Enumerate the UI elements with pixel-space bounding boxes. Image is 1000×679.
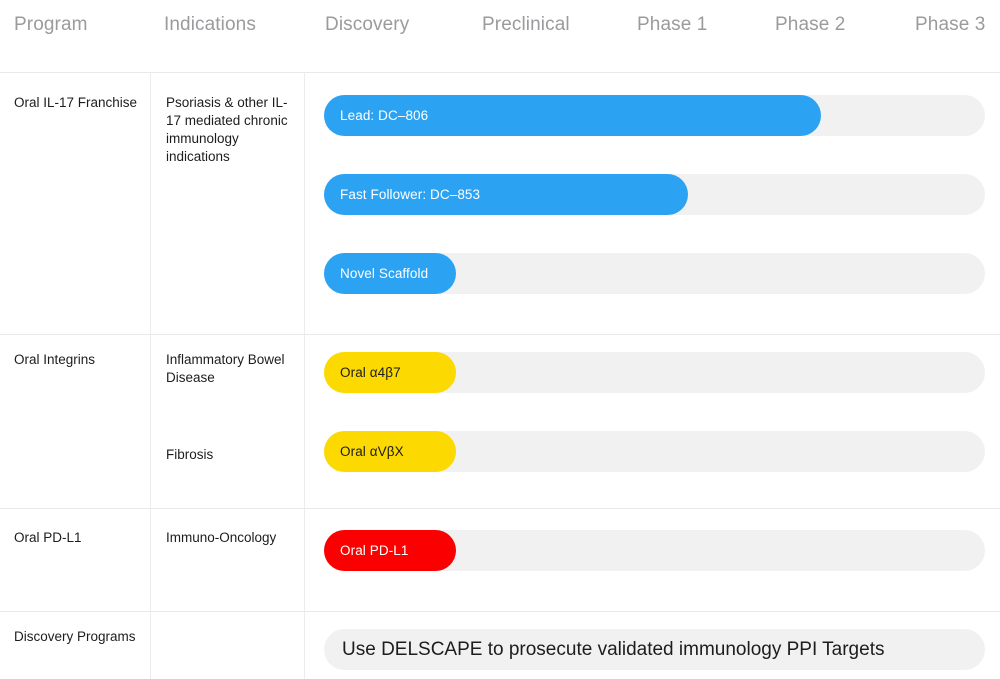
indication-text: Immuno-Oncology (166, 530, 276, 545)
program-name: Oral IL-17 Franchise (14, 95, 137, 110)
column-header-phase-3: Phase 3 (915, 14, 985, 36)
bar-label: Novel Scaffold (340, 266, 428, 281)
indication-text: Psoriasis & other IL-17 mediated chronic… (166, 95, 288, 164)
column-header-indications: Indications (164, 14, 256, 36)
program-name: Discovery Programs (14, 629, 136, 644)
pipeline-bar-lead-dc-806[interactable]: Lead: DC–806 (324, 95, 821, 136)
row-program-label: Discovery Programs (14, 628, 142, 646)
table-row: Oral Integrins Inflammatory Bowel Diseas… (0, 334, 1000, 508)
row-program-label: Oral PD-L1 (14, 529, 142, 547)
pipeline-bar-oral-avbx[interactable]: Oral αVβX (324, 431, 456, 472)
pipeline-header: Program Indications Discovery Preclinica… (0, 0, 1000, 72)
pipeline-bar-oral-a4b7[interactable]: Oral α4β7 (324, 352, 456, 393)
column-header-phase-2: Phase 2 (775, 14, 845, 36)
table-row: Discovery Programs Use DELSCAPE to prose… (0, 611, 1000, 679)
row-indication-label-2: Fibrosis (166, 446, 296, 464)
pipeline-bar-oral-pd-l1[interactable]: Oral PD-L1 (324, 530, 456, 571)
row-program-label: Oral Integrins (14, 351, 142, 369)
pipeline-bar-fast-follower-dc-853[interactable]: Fast Follower: DC–853 (324, 174, 688, 215)
column-header-discovery: Discovery (325, 14, 409, 36)
discovery-note-label: Use DELSCAPE to prosecute validated immu… (342, 639, 884, 661)
program-name: Oral Integrins (14, 352, 95, 367)
program-name: Oral PD-L1 (14, 530, 82, 545)
row-indication-label: Psoriasis & other IL-17 mediated chronic… (166, 94, 296, 166)
row-indication-label: Immuno-Oncology (166, 529, 296, 547)
bar-label: Fast Follower: DC–853 (340, 187, 480, 202)
column-header-preclinical: Preclinical (482, 14, 570, 36)
pipeline-chart: Program Indications Discovery Preclinica… (0, 0, 1000, 679)
table-row: Oral PD-L1 Immuno-Oncology Oral PD-L1 (0, 508, 1000, 611)
indication-text: Fibrosis (166, 447, 213, 462)
column-header-phase-1: Phase 1 (637, 14, 707, 36)
pipeline-bar-novel-scaffold[interactable]: Novel Scaffold (324, 253, 456, 294)
row-indication-label-1: Inflammatory Bowel Disease (166, 351, 296, 387)
column-header-program: Program (14, 14, 88, 36)
indication-text: Inflammatory Bowel Disease (166, 352, 285, 385)
discovery-note-banner[interactable]: Use DELSCAPE to prosecute validated immu… (324, 629, 985, 670)
bar-label: Oral αVβX (340, 444, 404, 459)
row-program-label: Oral IL-17 Franchise (14, 94, 142, 112)
table-row: Oral IL-17 Franchise Psoriasis & other I… (0, 72, 1000, 334)
bar-label: Oral α4β7 (340, 365, 401, 380)
bar-label: Lead: DC–806 (340, 108, 428, 123)
bar-label: Oral PD-L1 (340, 543, 409, 558)
